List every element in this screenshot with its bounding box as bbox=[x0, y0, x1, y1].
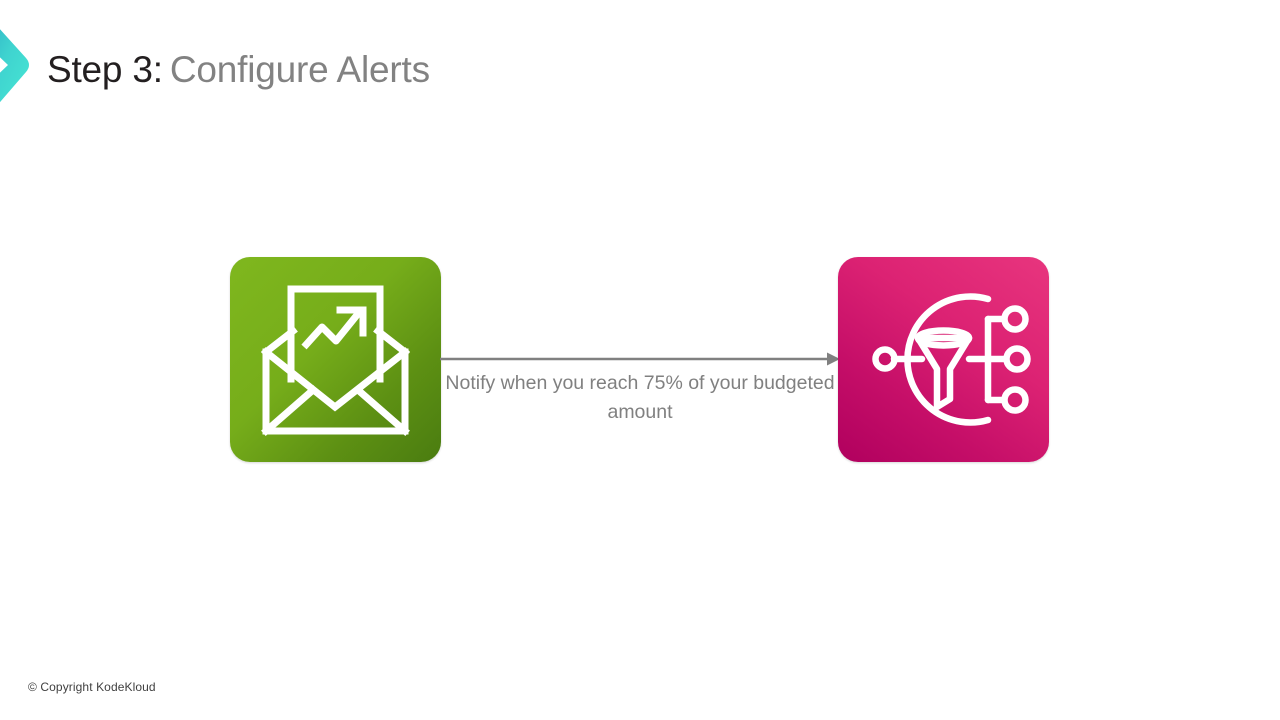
node-aws-sns[interactable] bbox=[838, 257, 1049, 462]
diagram-flow: Notify when you reach 75% of your budget… bbox=[0, 0, 1280, 720]
edge-label: Notify when you reach 75% of your budget… bbox=[445, 369, 835, 427]
copyright-footer: © Copyright KodeKloud bbox=[28, 680, 156, 694]
node-aws-budgets[interactable] bbox=[230, 257, 441, 462]
slide-canvas: Step 3:Configure Alerts bbox=[0, 0, 1280, 720]
aws-budgets-envelope-chart-icon bbox=[230, 257, 441, 462]
aws-sns-funnel-topic-icon bbox=[838, 257, 1049, 462]
